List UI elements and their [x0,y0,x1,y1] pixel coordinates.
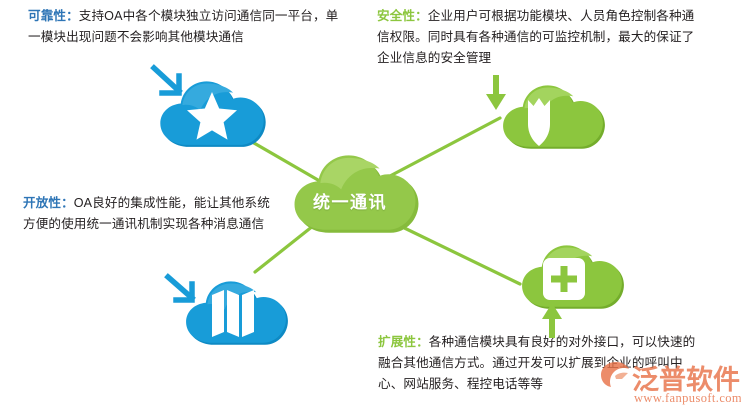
arrow-down-icon [486,75,506,110]
node-center[interactable] [295,155,419,232]
node-reliability[interactable] [154,68,266,147]
plus-icon [543,258,585,300]
watermark: 泛普软件 www.fanpusoft.com [598,358,741,414]
node-security[interactable] [486,75,605,149]
watermark-url: www.fanpusoft.com [634,391,741,406]
logo-icon [598,360,632,390]
hub-and-spoke-diagram [0,0,741,415]
arrow-down-right-icon [154,68,179,93]
connector-center-to-security [390,118,500,176]
arrow-down-right-icon [168,277,192,300]
diagram-canvas: 可靠性：支持OA中各个模块独立访问通信同一平台，单一模块出现问题不会影响其他模块… [0,0,741,415]
connector-center-to-extension [392,222,520,284]
connector-center-to-openness [255,222,318,272]
node-extension[interactable] [522,245,624,338]
node-openness[interactable] [168,277,288,345]
book-icon [212,290,254,337]
